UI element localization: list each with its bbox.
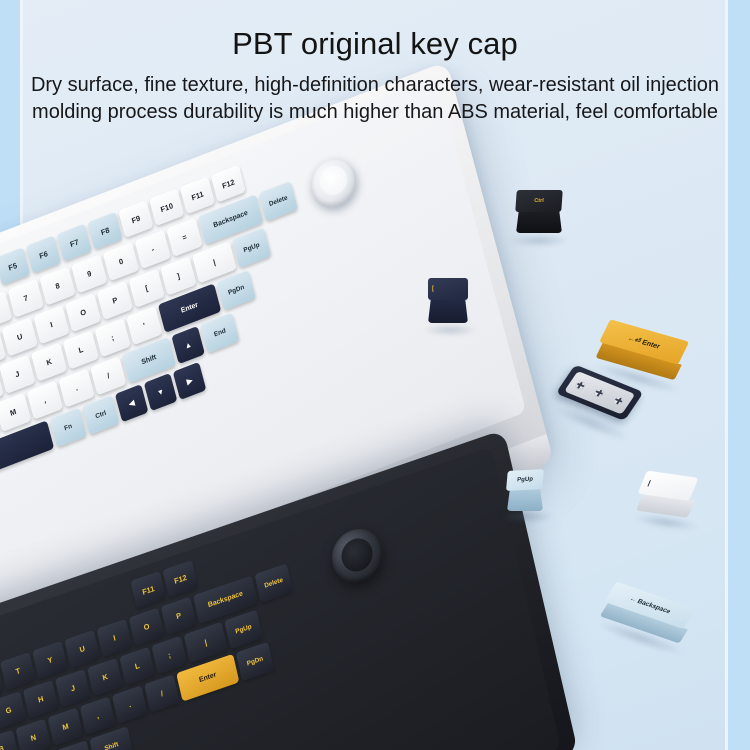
- floating-keycap-ctrl-black: Ctrl: [508, 190, 570, 246]
- keycap-front-face: [428, 299, 468, 323]
- keycap-shadow: [508, 234, 570, 247]
- page-subtitle: Dry surface, fine texture, high-definiti…: [0, 72, 750, 125]
- keycap-shadow: [500, 510, 554, 523]
- keycap-shadow: [422, 324, 478, 336]
- keycap-top-face: Ctrl: [515, 190, 563, 212]
- cross-stem-icon: [574, 380, 587, 391]
- page-title: PBT original key cap: [0, 26, 750, 62]
- product-image-stage: PBT original key cap Dry surface, fine t…: [0, 0, 750, 750]
- floating-keycap-navy: [: [420, 278, 478, 334]
- keycap-top-face: PgUp: [506, 469, 544, 491]
- keycap-front-face: [507, 489, 543, 511]
- floating-keycap-pgup-blue: PgUp: [500, 468, 554, 524]
- header-block: PBT original key cap Dry surface, fine t…: [0, 0, 750, 125]
- keycap-front-face: [516, 211, 562, 233]
- floating-keycap-pipe-white: |: [632, 468, 705, 535]
- cross-stem-icon: [593, 387, 606, 398]
- cross-stem-icon: [612, 395, 625, 406]
- keycap-top-face: [: [428, 278, 468, 300]
